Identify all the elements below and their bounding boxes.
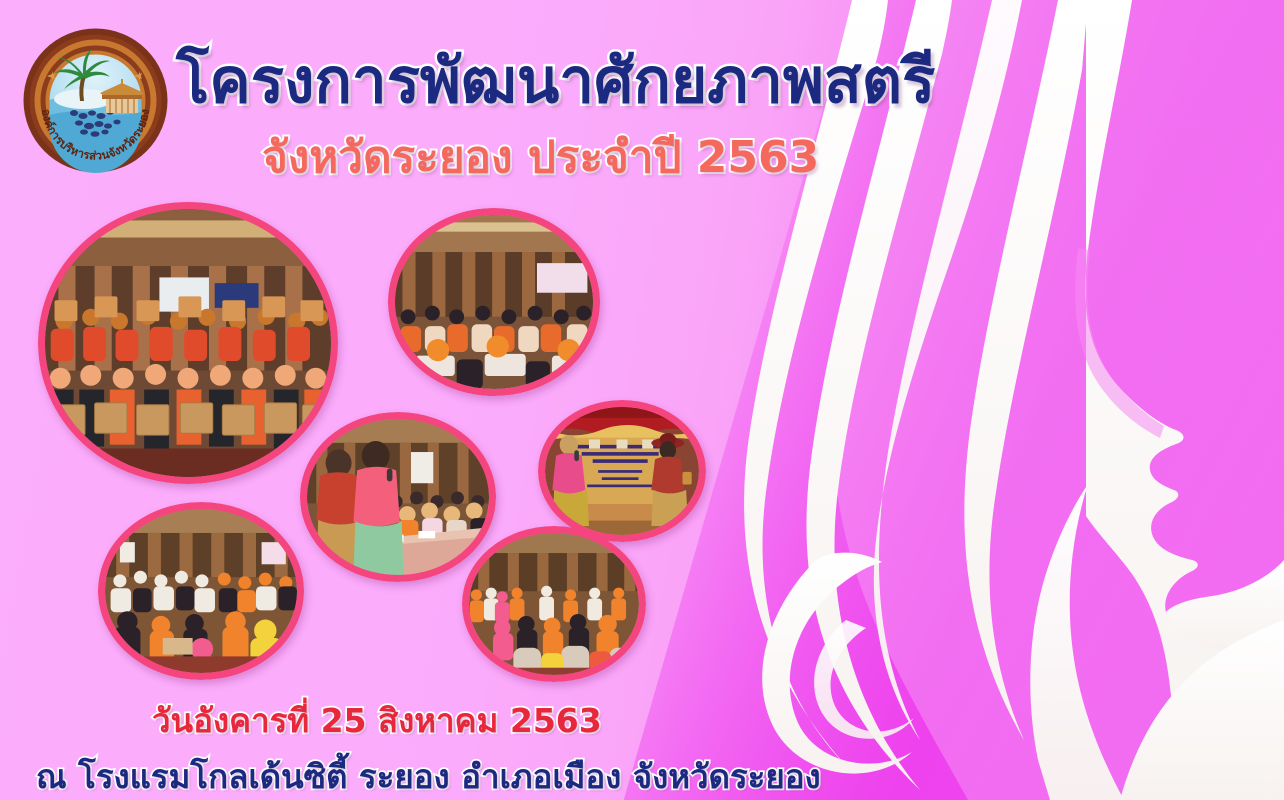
photo-audience-seated[interactable]	[388, 208, 600, 396]
photo-group-award[interactable]	[38, 202, 338, 484]
photo-seated-rows[interactable]	[462, 526, 646, 682]
photo-image	[395, 215, 593, 389]
rayong-pao-seal-logo: องค์การบริหารส่วนจังหวัดระยอง	[22, 27, 169, 174]
event-venue: ณ โรงแรมโกลเด้นซิตี้ ระยอง อำเภอเมือง จั…	[36, 750, 821, 800]
photo-hall-overview[interactable]	[98, 502, 304, 680]
photo-stage-presenters[interactable]	[538, 400, 706, 542]
photo-image	[469, 533, 639, 675]
page-title: โครงการพัฒนาศักยภาพสตรี	[176, 48, 935, 113]
banner-poster: องค์การบริหารส่วนจังหวัดระยอง โครงการพัฒ…	[0, 0, 1284, 800]
photo-stage-activity[interactable]	[300, 412, 496, 582]
photo-image	[105, 509, 297, 673]
photo-image	[45, 209, 331, 477]
photo-image	[307, 419, 489, 575]
page-subtitle: จังหวัดระยอง ประจำปี 2563	[262, 122, 819, 192]
photo-image	[545, 407, 699, 535]
event-date: วันอังคารที่ 25 สิงหาคม 2563	[152, 694, 602, 747]
